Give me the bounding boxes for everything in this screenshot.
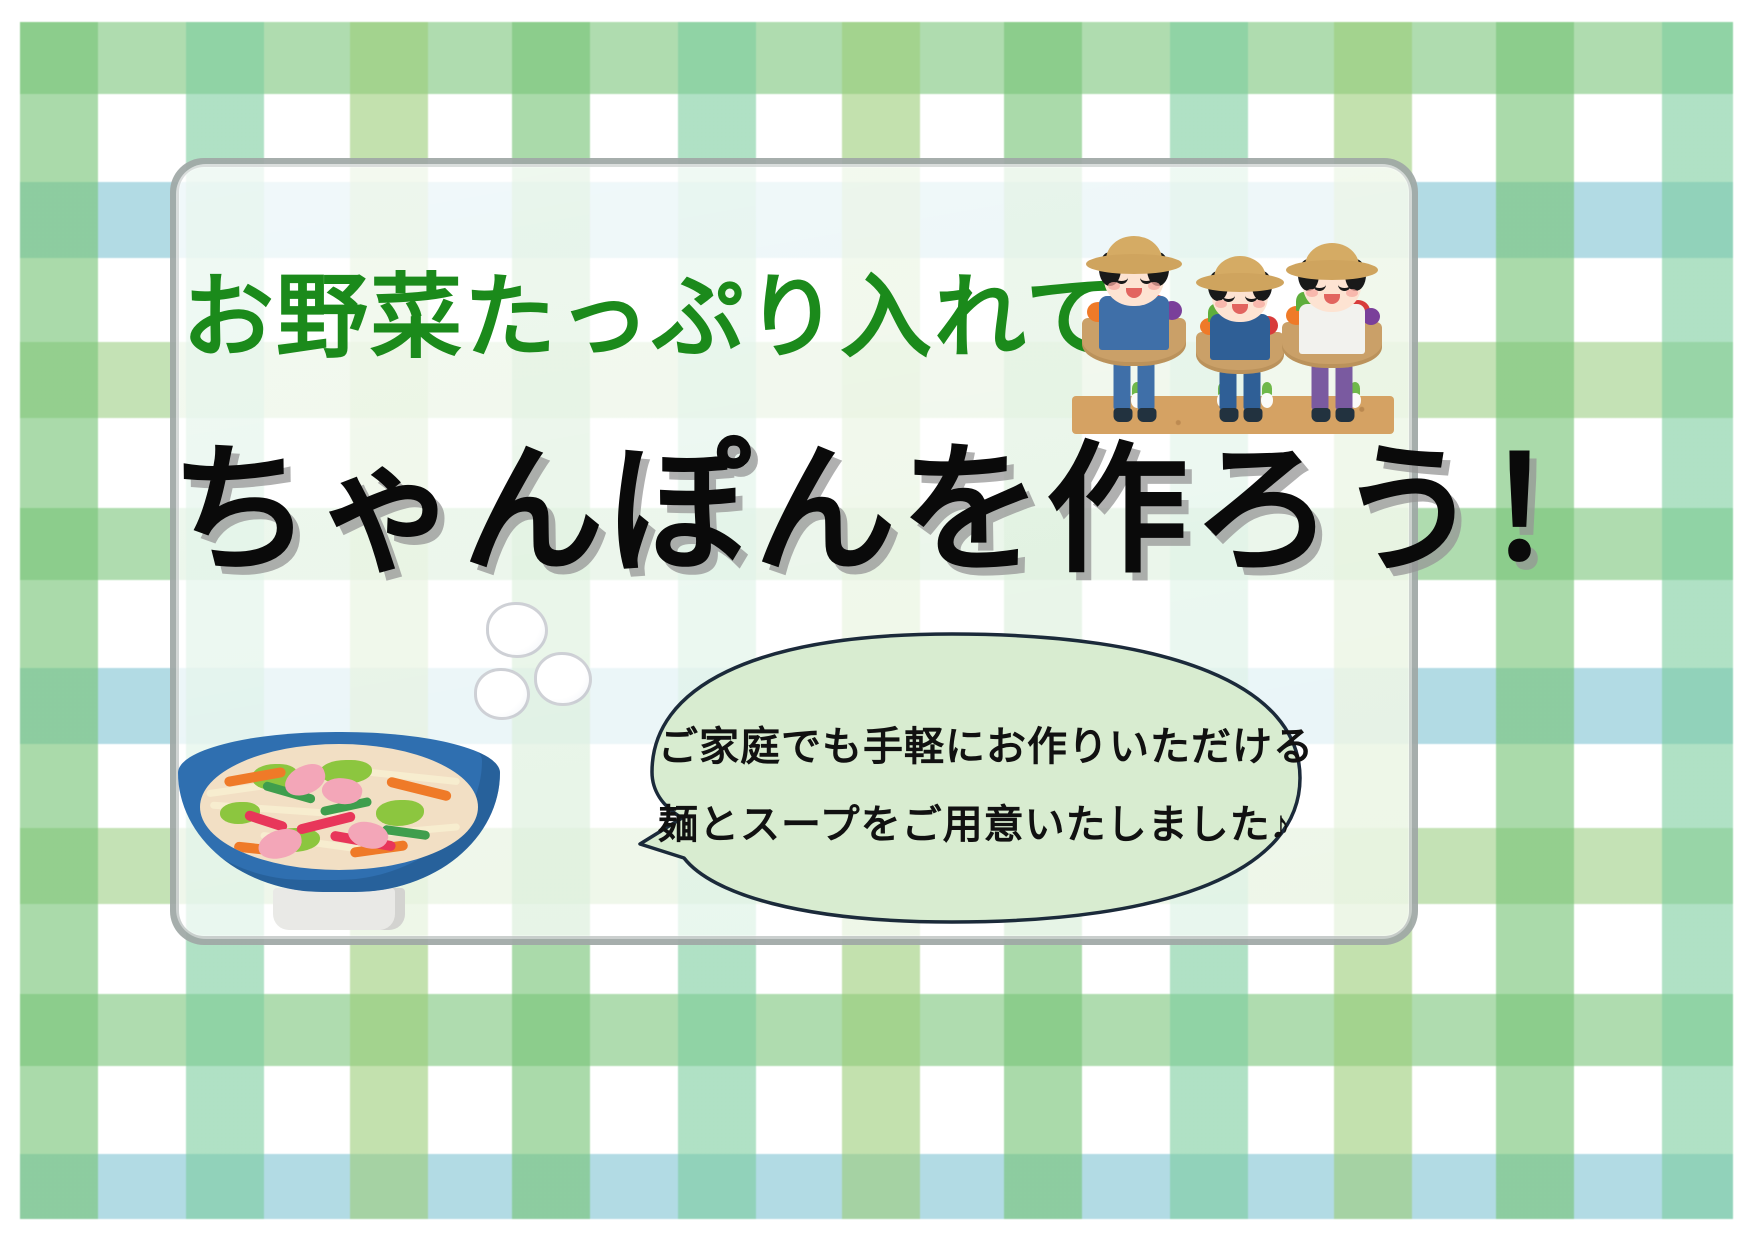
headline-green: お野菜たっぷり入れて <box>182 272 1082 364</box>
farmer-legs <box>1220 370 1261 410</box>
bowl-broth <box>200 744 478 870</box>
farmer-mouth <box>1232 304 1248 314</box>
speech-bubble-text: ご家庭でも手軽にお作りいただける 麺とスープをご用意いたしました♪ <box>658 708 1278 864</box>
speech-bubble: ご家庭でも手軽にお作りいただける 麺とスープをご用意いたしました♪ <box>612 622 1312 934</box>
farmer-legs <box>1114 362 1155 410</box>
headline-black: ちゃんぽんを作ろう！ <box>170 440 1420 582</box>
straw-hat-brim <box>1286 260 1378 280</box>
farmer-mouth <box>1126 288 1142 298</box>
steam-puff-icon <box>534 652 592 706</box>
farmer-legs <box>1312 364 1353 410</box>
bubble-line-2: 麺とスープをご用意いたしました♪ <box>658 786 1278 864</box>
poster-canvas: お野菜たっぷり入れて ちゃんぽんを作ろう！ <box>0 0 1755 1241</box>
farmer-right <box>1268 238 1396 410</box>
bowl-foot <box>273 888 405 930</box>
chanpon-bowl-illustration <box>178 700 500 930</box>
farmer-left <box>1068 230 1200 410</box>
bubble-line-1: ご家庭でも手軽にお作りいただける <box>658 708 1278 786</box>
steam-puff-icon <box>486 602 548 658</box>
straw-hat-brim <box>1086 254 1182 274</box>
farmer-mouth <box>1324 294 1340 304</box>
farmers-illustration <box>1062 212 1402 434</box>
